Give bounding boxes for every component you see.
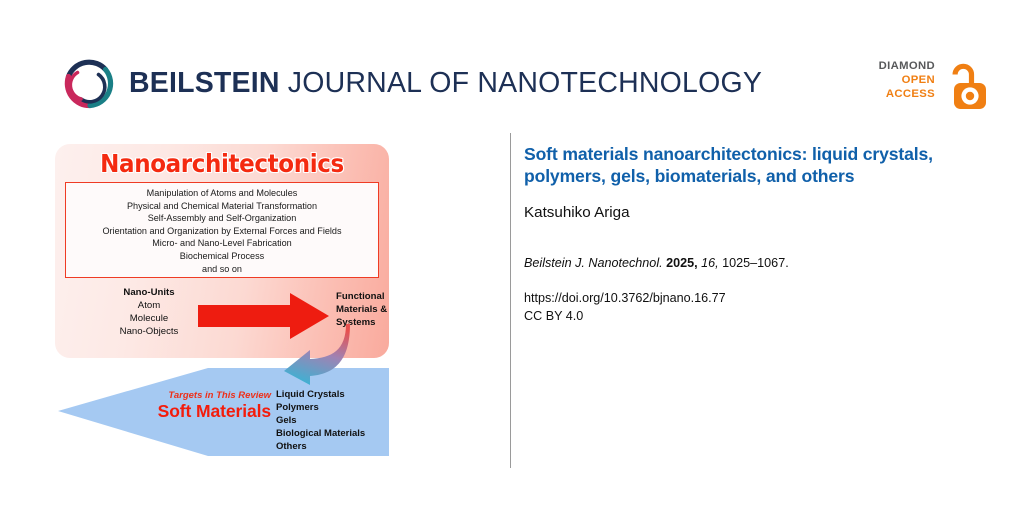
soft-material-item: Gels — [276, 415, 392, 428]
methods-box: Manipulation of Atoms and Molecules Phys… — [65, 182, 379, 278]
vertical-divider — [510, 133, 511, 468]
soft-materials-heading: Soft Materials — [116, 401, 271, 422]
method-line: and so on — [66, 263, 378, 276]
soft-material-item: Liquid Crystals — [276, 389, 392, 402]
soft-material-item: Others — [276, 441, 392, 454]
functional-output-line: Materials & — [336, 303, 441, 316]
journal-masthead: BEILSTEIN JOURNAL OF NANOTECHNOLOGY DIAM… — [0, 0, 1024, 132]
soft-material-item: Polymers — [276, 402, 392, 415]
soft-material-item: Biological Materials — [276, 428, 392, 441]
article-metadata: Soft materials nanoarchitectonics: liqui… — [524, 143, 974, 326]
citation-volume: 16, — [701, 256, 719, 270]
method-line: Orientation and Organization by External… — [66, 225, 378, 238]
article-doi-link[interactable]: https://doi.org/10.3762/bjnano.16.77 — [524, 289, 974, 308]
nano-unit-item: Molecule — [90, 312, 208, 325]
beilstein-ring-logo-icon — [56, 52, 120, 116]
functional-output-line: Functional — [336, 290, 441, 303]
nano-unit-item: Nano-Objects — [90, 325, 208, 338]
wordmark-journal-of-nanotechnology: JOURNAL OF NANOTECHNOLOGY — [280, 67, 762, 99]
citation-pages: 1025–1067. — [722, 256, 789, 270]
nanoarchitectonics-heading: Nanoarchitectonics — [68, 149, 375, 178]
open-access-unlocked-padlock-icon — [949, 61, 991, 111]
method-line: Manipulation of Atoms and Molecules — [66, 187, 378, 200]
method-line: Self-Assembly and Self-Organization — [66, 212, 378, 225]
diamond-open-access-badge: DIAMOND OPEN ACCESS — [869, 59, 991, 113]
functional-output-label: Functional Materials & Systems — [336, 290, 441, 330]
soft-materials-list: Liquid Crystals Polymers Gels Biological… — [276, 389, 392, 454]
article-citation: Beilstein J. Nanotechnol. 2025, 16, 1025… — [524, 255, 974, 272]
soft-materials-panel: Targets in This Review Soft Materials Li… — [58, 368, 389, 456]
article-authors: Katsuhiko Ariga — [524, 203, 974, 222]
method-line: Physical and Chemical Material Transform… — [66, 200, 378, 213]
oa-diamond-text: DIAMOND — [879, 59, 935, 73]
wordmark-beilstein: BEILSTEIN — [129, 67, 280, 99]
open-access-label: DIAMOND OPEN ACCESS — [879, 59, 935, 102]
citation-year: 2025, — [666, 256, 698, 270]
oa-access-text: ACCESS — [879, 87, 935, 101]
curved-down-arrow-icon — [254, 324, 350, 386]
functional-output-line: Systems — [336, 316, 441, 329]
nano-unit-item: Atom — [90, 299, 208, 312]
method-line: Biochemical Process — [66, 250, 378, 263]
nano-units-group: Nano-Units Atom Molecule Nano-Objects — [90, 286, 208, 338]
article-title[interactable]: Soft materials nanoarchitectonics: liqui… — [524, 143, 954, 188]
citation-journal: Beilstein J. Nanotechnol. — [524, 256, 663, 270]
journal-wordmark: BEILSTEIN JOURNAL OF NANOTECHNOLOGY — [129, 66, 762, 100]
method-line: Micro- and Nano-Level Fabrication — [66, 237, 378, 250]
graphical-abstract-figure: Nanoarchitectonics Manipulation of Atoms… — [55, 144, 389, 456]
article-license: CC BY 4.0 — [524, 307, 974, 326]
oa-open-text: OPEN — [879, 73, 935, 87]
nano-units-heading: Nano-Units — [90, 286, 208, 299]
